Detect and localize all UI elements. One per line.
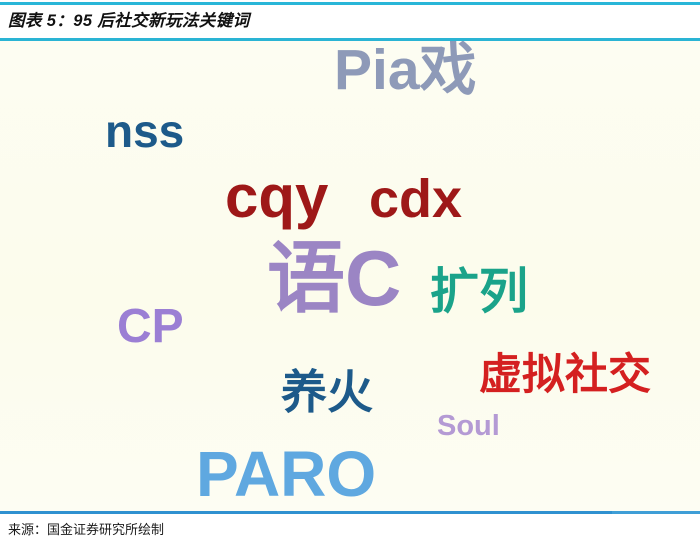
word-cloud-term: Pia戏 bbox=[334, 42, 477, 99]
word-cloud-term: PARO bbox=[196, 442, 376, 506]
word-cloud-term: 语C bbox=[267, 239, 401, 317]
word-cloud-term: CP bbox=[117, 303, 184, 351]
source-note: 来源：国金证券研究所绘制 bbox=[8, 523, 164, 536]
word-cloud-term: cdx bbox=[369, 172, 462, 226]
word-cloud-term: cqy bbox=[225, 167, 328, 227]
word-cloud-canvas: Pia戏nsscqycdx语C扩列CP虚拟社交养火SoulPARO bbox=[0, 41, 700, 511]
word-cloud-term: Soul bbox=[437, 412, 500, 441]
figure-header: 图表 5：95 后社交新玩法关键词 bbox=[0, 5, 700, 38]
word-cloud-term: nss bbox=[105, 108, 184, 154]
word-cloud-term: 扩列 bbox=[430, 268, 528, 317]
figure-title: 图表 5：95 后社交新玩法关键词 bbox=[8, 13, 250, 30]
word-cloud-term: 虚拟社交 bbox=[479, 354, 651, 397]
figure-footer: 来源：国金证券研究所绘制 bbox=[0, 514, 700, 545]
word-cloud-term: 养火 bbox=[281, 369, 373, 415]
figure-container: 图表 5：95 后社交新玩法关键词 Pia戏nsscqycdx语C扩列CP虚拟社… bbox=[0, 0, 700, 545]
